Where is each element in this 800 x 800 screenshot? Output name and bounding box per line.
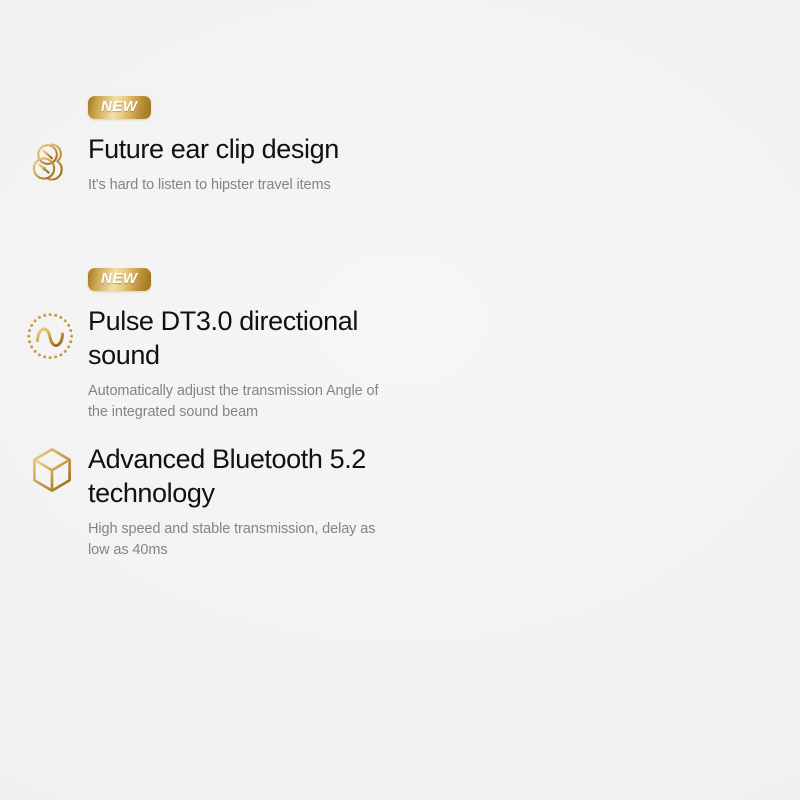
feature-body: Pulse DT3.0 directional sound Automatica… [20,304,386,422]
pulse-wave-icon [20,306,80,366]
feature-title: Pulse DT3.0 directional sound [88,304,386,372]
feature-highlight-page: NEW Future ear clip design It's hard to [0,0,800,800]
badge-slot: NEW [20,268,386,304]
feature-description: Automatically adjust the transmission An… [88,381,386,422]
feature-description: High speed and stable transmission, dela… [88,519,386,560]
new-badge: NEW [88,96,151,119]
feature-card-exceed-48-hours-battery-life: 48 Exceed 48 hours battery life No anxie… [400,268,800,442]
earbuds-icon [20,134,80,194]
feature-description: It's hard to listen to hipster travel it… [88,175,386,196]
badge-slot: NEW [20,96,386,132]
feature-title: Future ear clip design [88,132,386,166]
feature-card-call-noise-reduction-cvc-algorithm: Call noise reduction CVC algorithm You c… [400,442,800,592]
feature-body: Advanced Bluetooth 5.2 technology High s… [20,442,386,560]
hexagon-cube-icon [22,440,82,500]
feature-card-future-ear-clip-design: NEW Future ear clip design It's hard to [0,96,400,268]
feature-card-advanced-bluetooth-52-technology: Advanced Bluetooth 5.2 technology High s… [0,442,400,592]
feature-grid: NEW Future ear clip design It's hard to [0,96,800,592]
new-badge: NEW [88,268,151,291]
feature-body: Future ear clip design It's hard to list… [20,132,386,196]
feature-title: Advanced Bluetooth 5.2 technology [88,442,386,510]
feature-card-sound-absorbing-lumen-block-design: NEW Sound-absorbing lumen block design B… [400,96,800,268]
feature-card-pulse-dt3-directional-sound: NEW [0,268,400,442]
